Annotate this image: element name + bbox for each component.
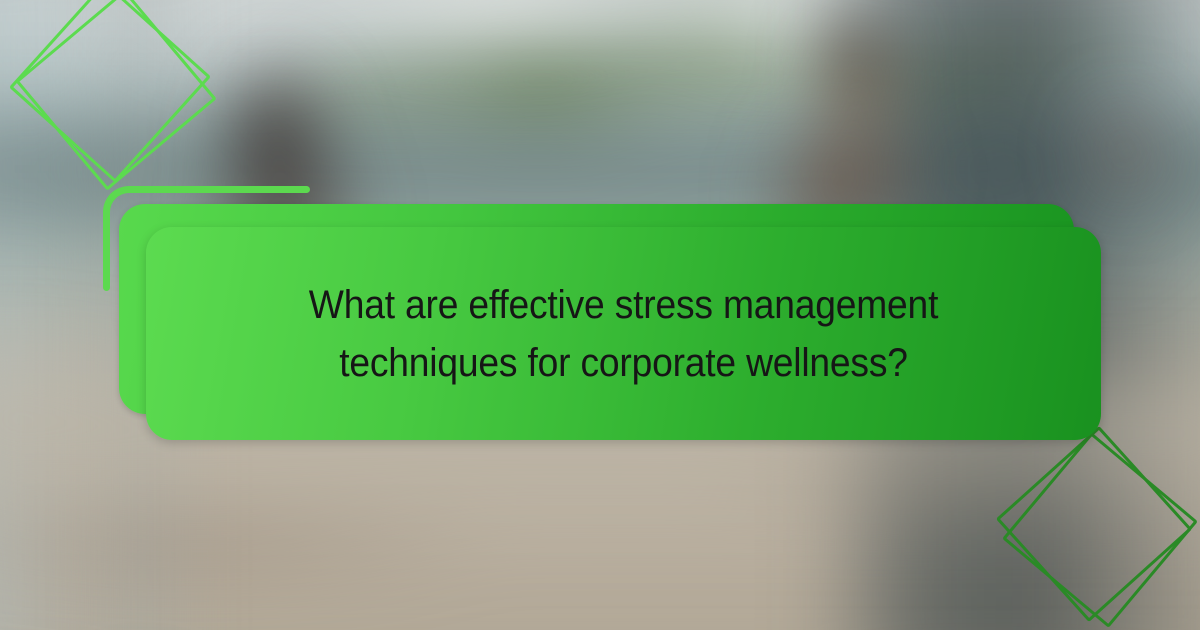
question-headline: What are effective stress management tec… <box>179 276 1067 392</box>
card-front-layer: What are effective stress management tec… <box>146 227 1101 440</box>
